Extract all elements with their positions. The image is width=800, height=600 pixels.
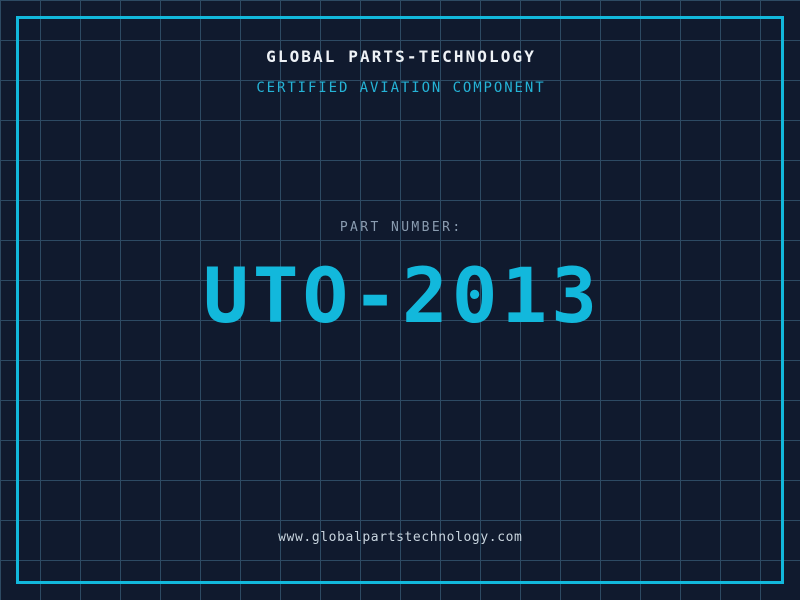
part-number-card: GLOBAL PARTS-TECHNOLOGY CERTIFIED AVIATI… [0, 0, 800, 600]
part-number-value: UTO-2013 [0, 258, 800, 334]
certification-subtitle: CERTIFIED AVIATION COMPONENT [0, 81, 800, 95]
part-number-label: PART NUMBER: [0, 221, 800, 234]
website-url: www.globalpartstechnology.com [0, 531, 800, 544]
company-name: GLOBAL PARTS-TECHNOLOGY [0, 49, 800, 65]
